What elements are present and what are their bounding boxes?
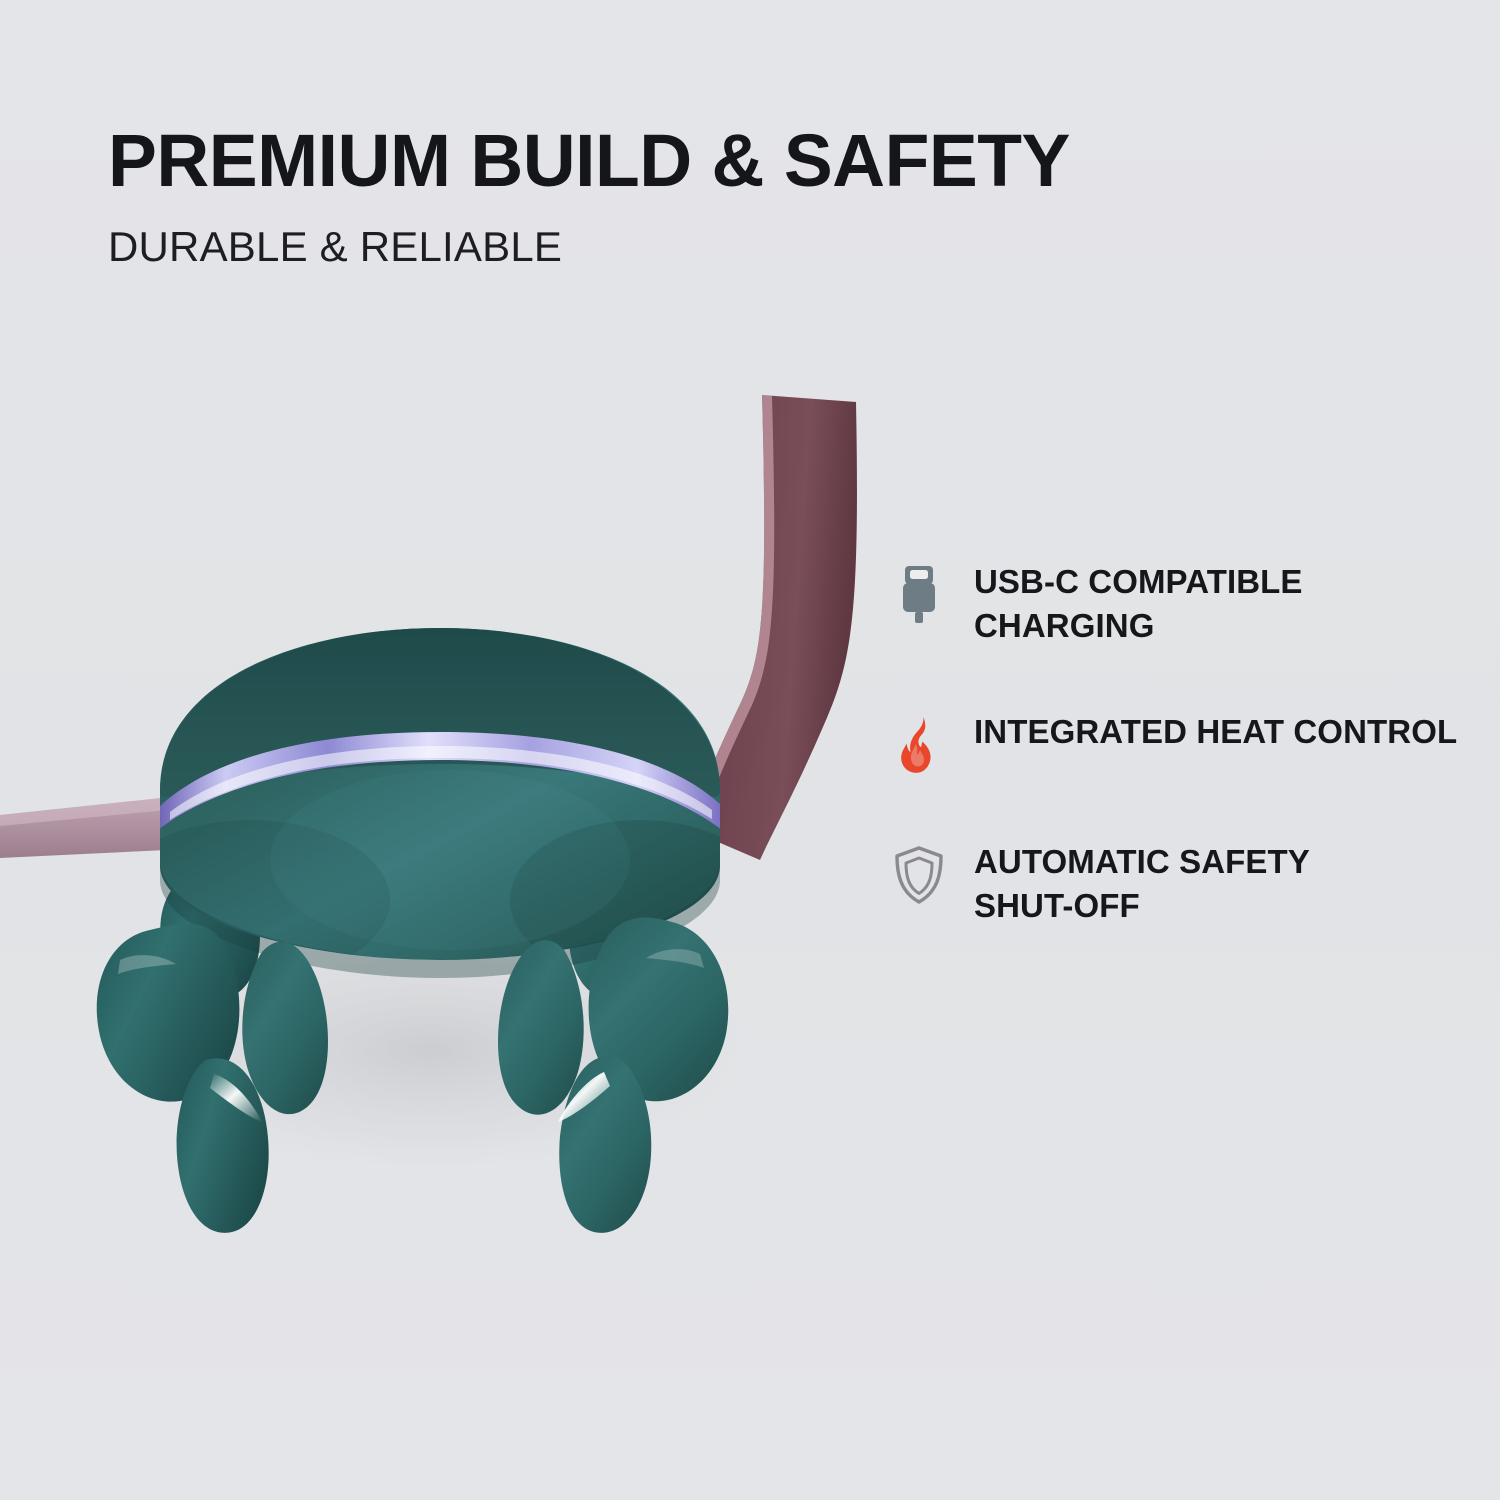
header-block: PREMIUM BUILD & SAFETY DURABLE & RELIABL… — [108, 124, 1428, 268]
shield-icon — [884, 836, 954, 914]
feature-label-heat-control: INTEGRATED HEAT CONTROL — [974, 706, 1457, 754]
feature-item-usb-c: USB-C COMPATIBLE CHARGING — [884, 556, 1484, 647]
page-subtitle: DURABLE & RELIABLE — [108, 226, 1428, 268]
feature-item-safety-shutoff: AUTOMATIC SAFETY SHUT-OFF — [884, 836, 1484, 927]
product-image — [0, 360, 880, 1260]
flame-icon — [884, 706, 954, 784]
scalp-massager-illustration — [0, 360, 880, 1260]
feature-label-usb-c: USB-C COMPATIBLE CHARGING — [974, 556, 1303, 647]
infographic-page: PREMIUM BUILD & SAFETY DURABLE & RELIABL… — [0, 0, 1500, 1500]
feature-label-safety-shutoff: AUTOMATIC SAFETY SHUT-OFF — [974, 836, 1310, 927]
feature-item-heat-control: INTEGRATED HEAT CONTROL — [884, 706, 1484, 784]
page-title: PREMIUM BUILD & SAFETY — [108, 124, 1415, 198]
usb-c-plug-icon — [884, 556, 954, 634]
